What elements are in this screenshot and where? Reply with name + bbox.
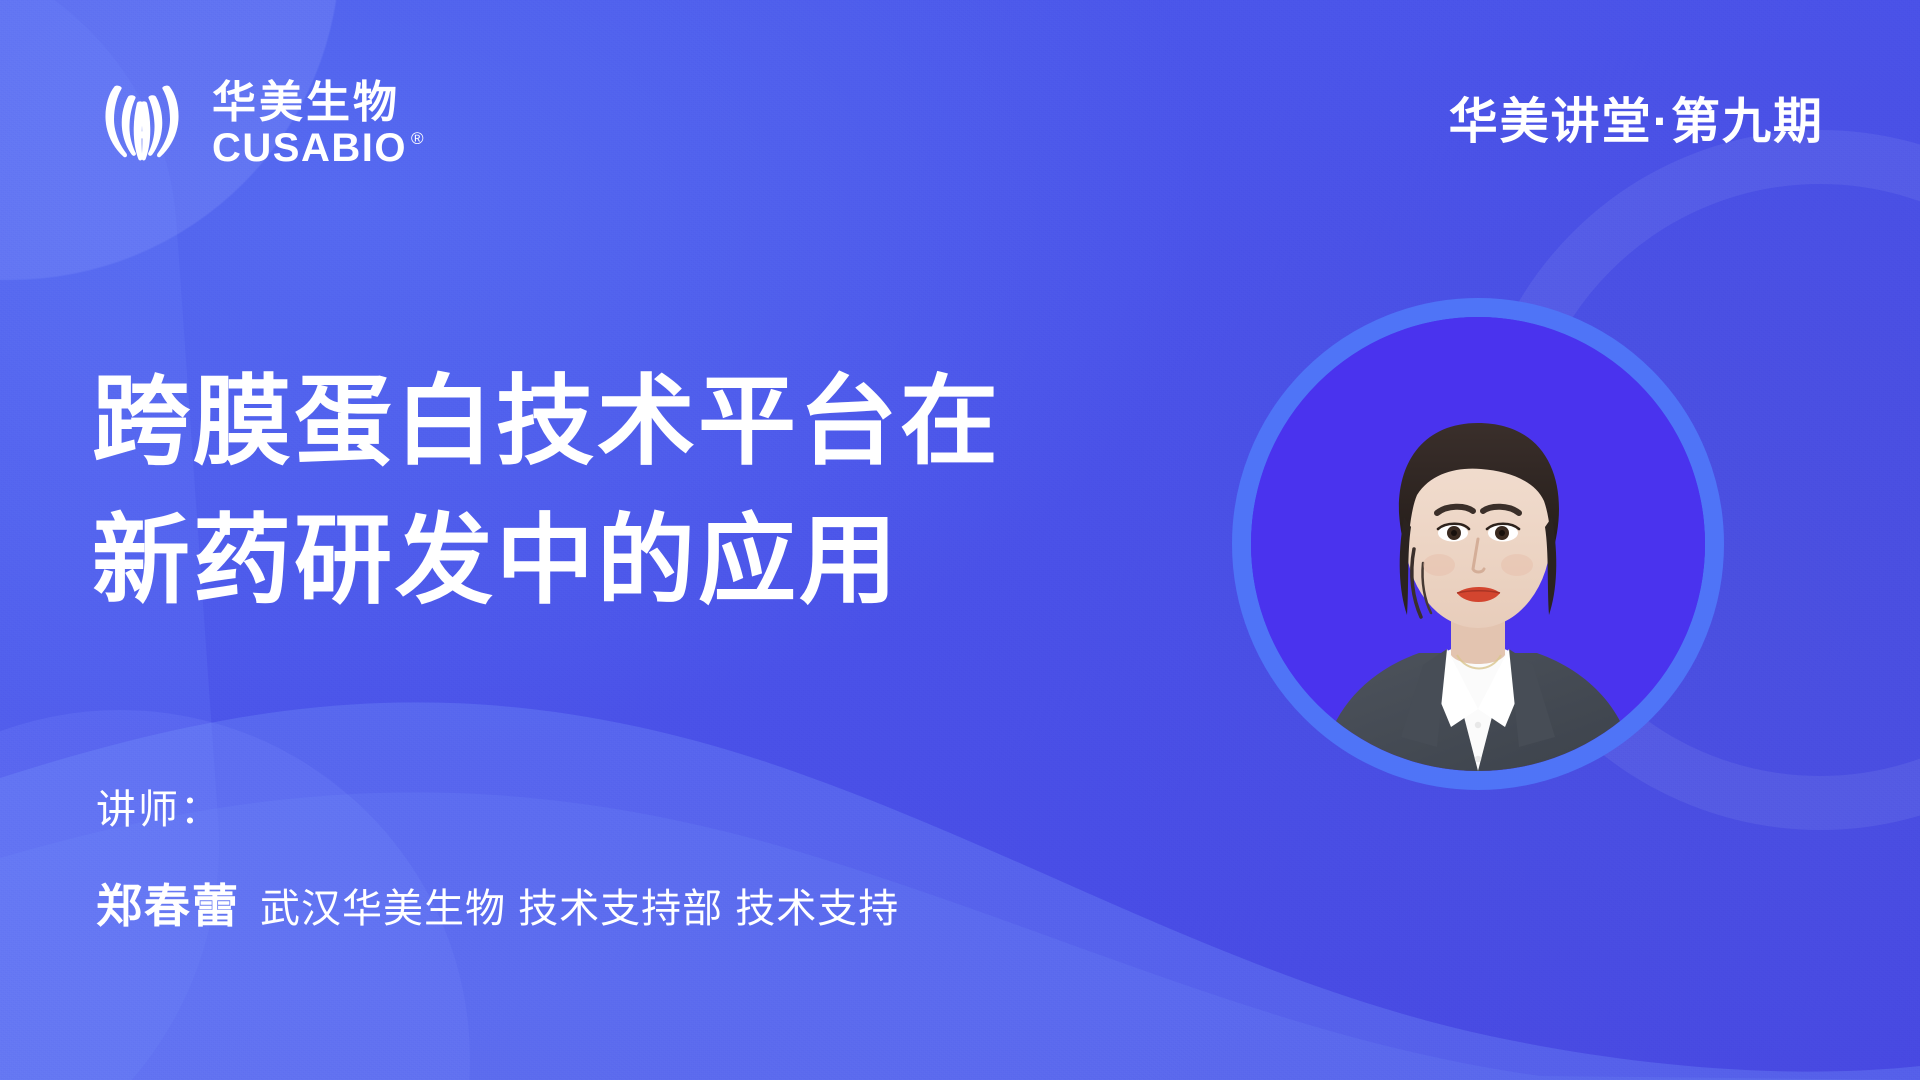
page-title: 跨膜蛋白技术平台在 新药研发中的应用 bbox=[92, 352, 1001, 630]
speaker-block: 讲师： 郑春蕾 武汉华美生物 技术支持部 技术支持 bbox=[96, 786, 899, 936]
brand-name-cn: 华美生物 bbox=[212, 79, 425, 127]
speaker-name: 郑春蕾 bbox=[96, 870, 240, 936]
brand-logo: 华美生物 CUSABIO ® bbox=[86, 66, 425, 178]
page-title-line-2: 新药研发中的应用 bbox=[92, 491, 1001, 630]
speaker-affiliation: 武汉华美生物 技术支持部 技术支持 bbox=[260, 876, 899, 934]
speaker-portrait bbox=[1232, 298, 1724, 790]
brand-name-en-row: CUSABIO ® bbox=[212, 127, 425, 169]
brand-name-en: CUSABIO bbox=[212, 127, 407, 169]
page-title-line-1: 跨膜蛋白技术平台在 bbox=[92, 352, 1001, 491]
speaker-label: 讲师： bbox=[96, 786, 899, 834]
registered-trademark-icon: ® bbox=[411, 130, 425, 148]
episode-badge: 华美讲堂·第九期 bbox=[1449, 82, 1824, 153]
portrait-photo bbox=[1251, 317, 1705, 771]
webinar-poster: 华美生物 CUSABIO ® 华美讲堂·第九期 跨膜蛋白技术平台在 新药研发中的… bbox=[0, 0, 1920, 1080]
brand-wordmark: 华美生物 CUSABIO ® bbox=[212, 75, 425, 169]
cusabio-butterfly-hands-logo-icon bbox=[86, 66, 198, 178]
speaker-details-row: 郑春蕾 武汉华美生物 技术支持部 技术支持 bbox=[96, 870, 899, 936]
